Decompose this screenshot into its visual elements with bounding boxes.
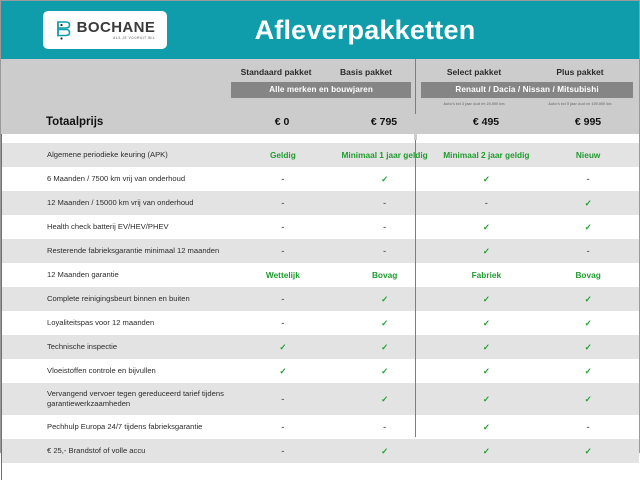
cell-plus: ✓ [537,222,639,232]
table-row: 6 Maanden / 7500 km vrij van onderhoud-✓… [1,167,639,191]
table-row: Vervangend vervoer tegen gereduceerd tar… [1,383,639,415]
group-divider-gap [414,114,417,140]
table-row: 12 Maanden / 15000 km vrij van onderhoud… [1,191,639,215]
cell-plus: - [537,246,639,256]
bochane-logo: BOCHANE ALS JE VOORUIT WIL [43,11,167,49]
cell-standaard: - [232,174,334,184]
feature-label: Complete reinigingsbeurt binnen en buite… [2,294,232,304]
comparison-table: Algemene periodieke keuring (APK)GeldigM… [1,143,639,463]
cell-plus: ✓ [537,294,639,304]
cell-basis: ✓ [334,394,436,404]
cell-standaard: - [232,318,334,328]
cell-standaard: Wettelijk [232,270,334,280]
feature-label: 12 Maanden garantie [2,270,232,280]
cell-standaard: - [232,394,334,404]
cell-basis: ✓ [334,174,436,184]
feature-label: Pechhulp Europa 24/7 tijdens fabrieksgar… [2,422,232,432]
cell-select: Fabriek [436,270,538,280]
table-row: Loyaliteitspas voor 12 maanden-✓✓✓ [1,311,639,335]
group-left-badge: Alle merken en bouwjaren [231,82,411,98]
cell-standaard: Geldig [232,150,334,160]
afleverpakketten-document: BOCHANE ALS JE VOORUIT WIL Afleverpakket… [0,0,640,453]
cell-basis: - [334,198,436,208]
cell-select: ✓ [436,246,538,256]
package-group-left: Standaard pakket Basis pakket Alle merke… [231,59,411,107]
table-row: Health check batterij EV/HEV/PHEV--✓✓ [1,215,639,239]
cell-standaard: ✓ [232,366,334,376]
feature-label: 12 Maanden / 15000 km vrij van onderhoud [2,198,232,208]
cell-plus: ✓ [537,342,639,352]
cell-select: ✓ [436,446,538,456]
cell-basis: ✓ [334,446,436,456]
cell-select: ✓ [436,422,538,432]
table-row: Pechhulp Europa 24/7 tijdens fabrieksgar… [1,415,639,439]
feature-label: Resterende fabrieksgarantie minimaal 12 … [2,246,232,256]
cell-select: ✓ [436,366,538,376]
logo-tagline: ALS JE VOORUIT WIL [113,37,155,40]
column-title-plus: Plus pakket [527,67,633,77]
package-header-band: Standaard pakket Basis pakket Alle merke… [1,59,639,134]
cell-standaard: - [232,446,334,456]
feature-label: € 25,- Brandstof of volle accu [2,446,232,456]
table-row: Algemene periodieke keuring (APK)GeldigM… [1,143,639,167]
table-top-spacer [1,134,639,143]
cell-basis: Bovag [334,270,436,280]
cell-standaard: - [232,222,334,232]
table-row: Vloeistoffen controle en bijvullen✓✓✓✓ [1,359,639,383]
table-row: Technische inspectie✓✓✓✓ [1,335,639,359]
total-price-label: Totaalprijs [1,116,231,128]
cell-standaard: - [232,246,334,256]
group-right-badge: Renault / Dacia / Nissan / Mitsubishi [421,82,633,98]
cell-plus: ✓ [537,198,639,208]
price-basis: € 795 [333,116,435,128]
cell-select: Minimaal 2 jaar geldig [436,150,538,160]
price-plus: € 995 [537,116,639,128]
table-bottom-spacer [1,463,639,480]
cell-basis: ✓ [334,366,436,376]
cell-basis: ✓ [334,318,436,328]
feature-label: Vervangend vervoer tegen gereduceerd tar… [2,389,232,410]
bochane-mark-icon [55,18,72,42]
cell-plus: - [537,422,639,432]
cell-plus: ✓ [537,318,639,328]
cell-plus: - [537,174,639,184]
cell-basis: Minimaal 1 jaar geldig [334,150,436,160]
cell-plus: ✓ [537,394,639,404]
column-note-plus: Auto's tot 5 jaar oud en 100.000 km [527,102,633,106]
feature-label: Vloeistoffen controle en bijvullen [2,366,232,376]
cell-select: ✓ [436,222,538,232]
price-select: € 495 [435,116,537,128]
cell-basis: ✓ [334,294,436,304]
column-title-select: Select pakket [421,67,527,77]
cell-basis: ✓ [334,342,436,352]
cell-standaard: ✓ [232,342,334,352]
table-row: 12 Maanden garantieWettelijkBovagFabriek… [1,263,639,287]
logo-wordmark: BOCHANE [77,20,156,35]
cell-plus: Nieuw [537,150,639,160]
table-row: Complete reinigingsbeurt binnen en buite… [1,287,639,311]
package-group-right: Select pakket Plus pakket Renault / Daci… [421,59,633,106]
cell-basis: - [334,222,436,232]
table-row: € 25,- Brandstof of volle accu-✓✓✓ [1,439,639,463]
feature-label: Loyaliteitspas voor 12 maanden [2,318,232,328]
cell-select: - [436,198,538,208]
column-title-standaard: Standaard pakket [231,67,321,77]
column-note-select: Auto's tot 3 jaar oud en 20.000 km [421,102,527,106]
cell-standaard: - [232,198,334,208]
feature-label: Algemene periodieke keuring (APK) [2,150,232,160]
total-price-row: Totaalprijs € 0 € 795 € 495 € 995 [1,110,639,134]
cell-basis: - [334,422,436,432]
cell-select: ✓ [436,394,538,404]
cell-select: ✓ [436,342,538,352]
feature-label: 6 Maanden / 7500 km vrij van onderhoud [2,174,232,184]
cell-plus: ✓ [537,366,639,376]
cell-select: ✓ [436,174,538,184]
document-header: BOCHANE ALS JE VOORUIT WIL Afleverpakket… [1,1,639,59]
table-row: Resterende fabrieksgarantie minimaal 12 … [1,239,639,263]
feature-label: Health check batterij EV/HEV/PHEV [2,222,232,232]
feature-label: Technische inspectie [2,342,232,352]
column-title-basis: Basis pakket [321,67,411,77]
cell-plus: ✓ [537,446,639,456]
cell-basis: - [334,246,436,256]
cell-select: ✓ [436,294,538,304]
cell-plus: Bovag [537,270,639,280]
cell-standaard: - [232,294,334,304]
price-standaard: € 0 [231,116,333,128]
cell-standaard: - [232,422,334,432]
cell-select: ✓ [436,318,538,328]
